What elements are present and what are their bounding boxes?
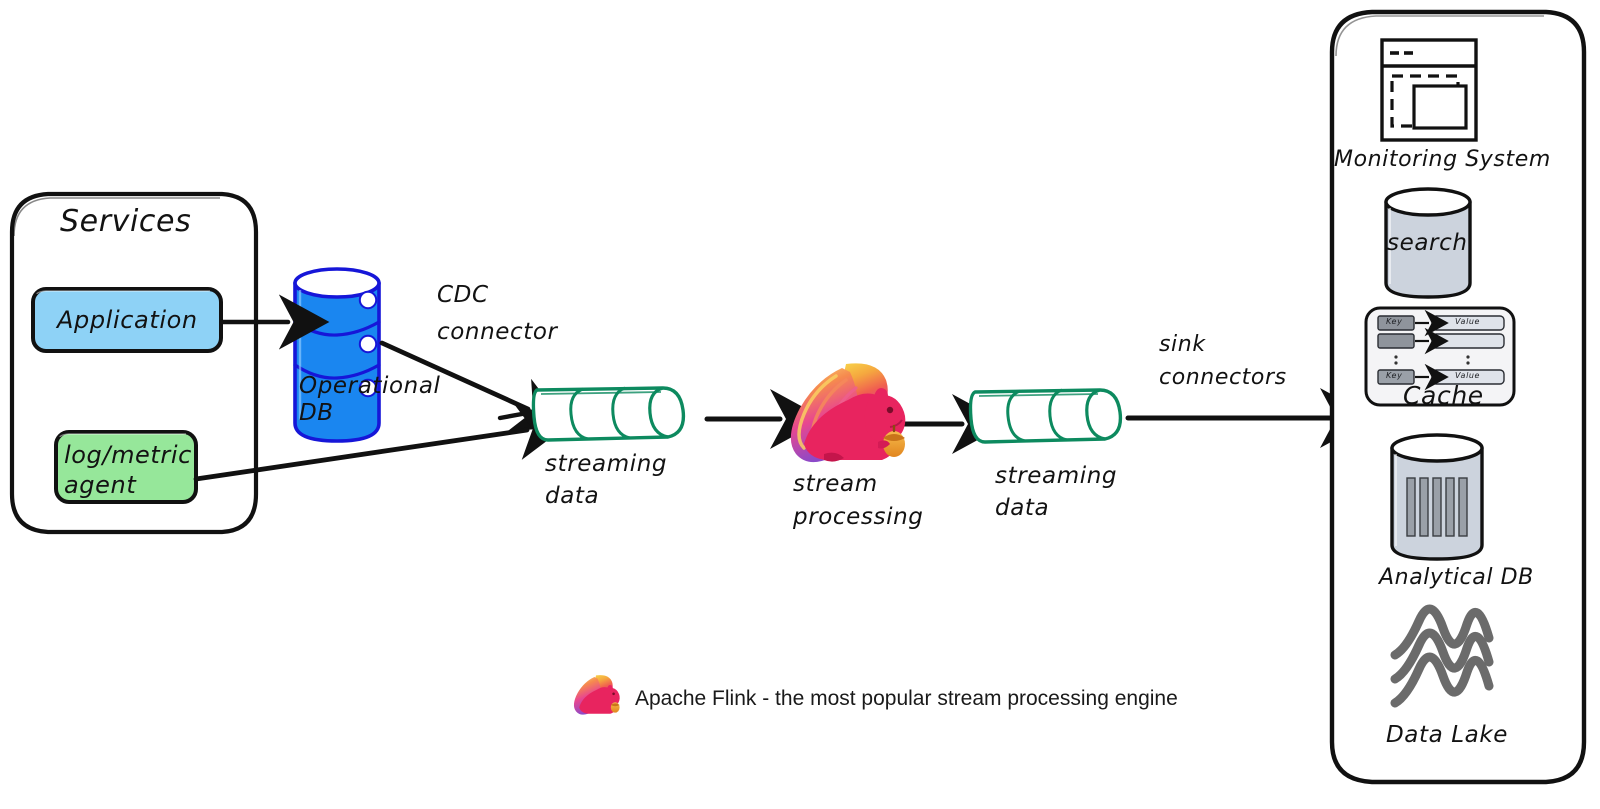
diagram-canvas: Services Application log/metric agent Op… xyxy=(0,0,1600,809)
application-box-shape xyxy=(33,289,221,351)
analytical-db-cylinder-icon xyxy=(1392,435,1482,559)
search-cylinder-icon xyxy=(1386,189,1470,297)
cache-keyvalue-icon xyxy=(1366,308,1514,405)
edge-cdc-connector xyxy=(382,343,533,418)
streaming-data-sink-icon xyxy=(971,390,1121,442)
footer-flink-logo xyxy=(574,675,620,715)
agent-box-shape xyxy=(56,432,196,502)
footer-caption: Apache Flink - the most popular stream p… xyxy=(635,687,1178,711)
streaming-data-source-icon xyxy=(533,388,683,440)
operational-db-icon xyxy=(295,269,379,441)
monitoring-window-icon xyxy=(1382,40,1476,140)
apache-flink-logo xyxy=(791,363,905,462)
